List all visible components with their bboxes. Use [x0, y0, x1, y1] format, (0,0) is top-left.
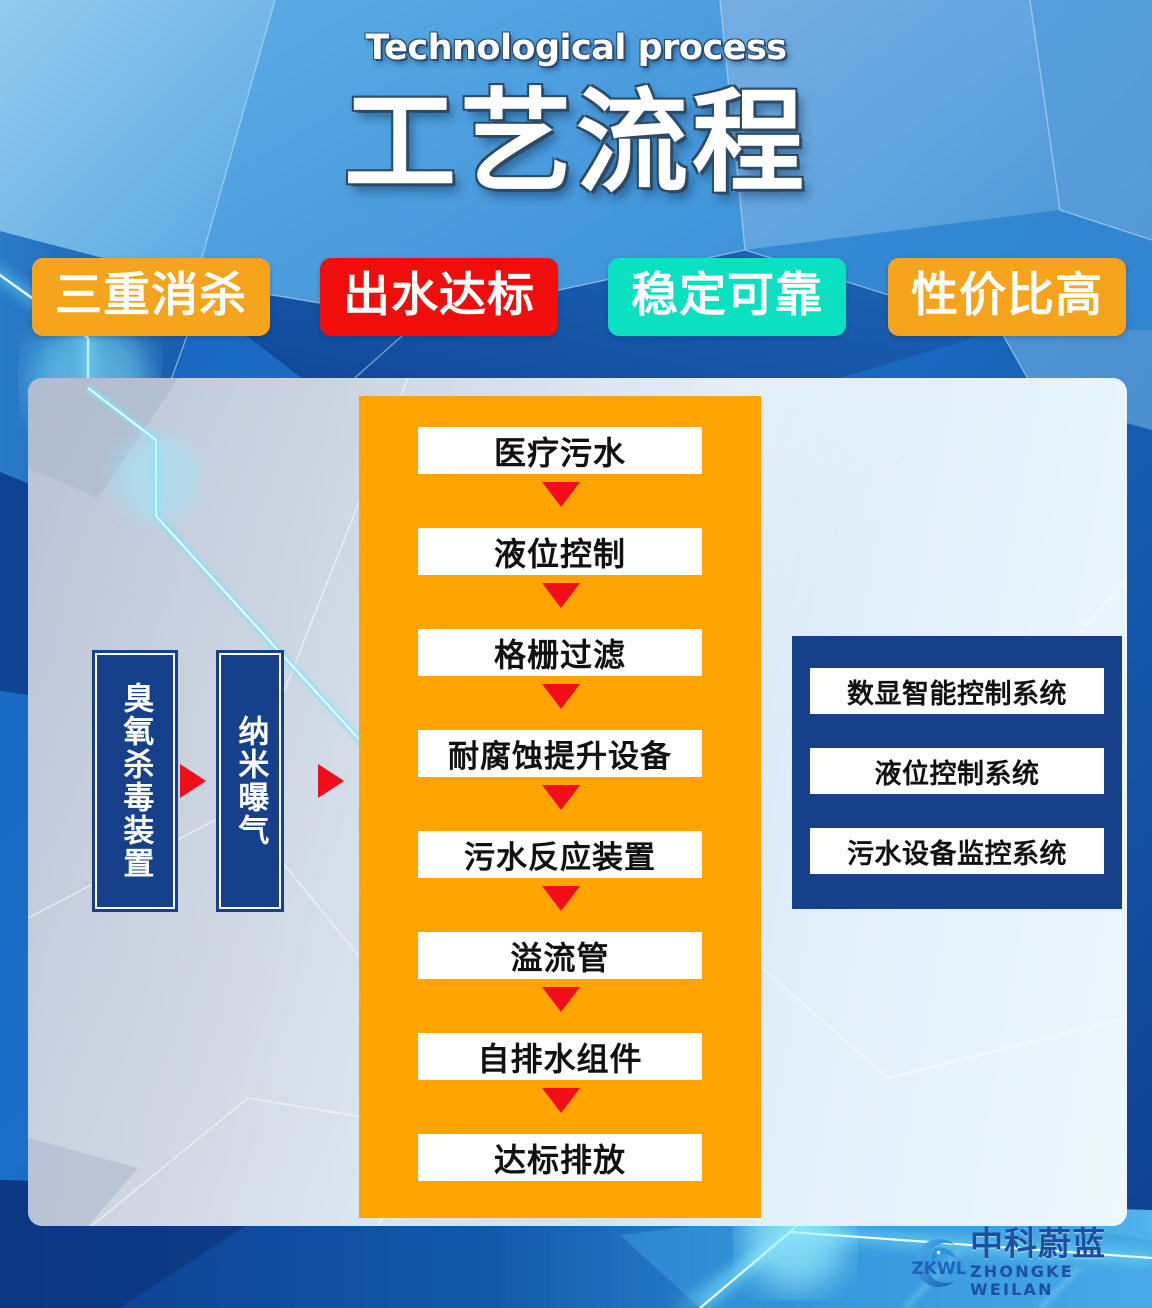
flow-step-0[interactable]: 医疗污水	[418, 427, 702, 474]
main-flow-column: 医疗污水 液位控制 格栅过滤 耐腐蚀提升设备 污水反应装置 溢流管 自排水组件 …	[359, 396, 761, 1218]
pretreatment-box-label: 臭氧杀毒装置	[119, 682, 152, 880]
pretreatment-box-nano-aeration[interactable]: 纳米曝气	[216, 650, 284, 912]
brand-logo[interactable]: ZKWL 中科蔚蓝 ZHONGKE WEILAN	[905, 1232, 1140, 1294]
pretreatment-box-label: 纳米曝气	[234, 715, 267, 847]
dolphin-circle-icon: ZKWL	[905, 1234, 967, 1292]
badge-label: 性价比高	[911, 272, 1103, 323]
flow-step-4[interactable]: 污水反应装置	[418, 831, 702, 878]
flow-step-5[interactable]: 溢流管	[418, 932, 702, 979]
badge-effluent-compliant[interactable]: 出水达标	[320, 258, 558, 336]
triangle-right-icon-0	[180, 764, 206, 798]
triangle-down-icon-0	[542, 482, 580, 507]
english-title: Technological process	[0, 28, 1152, 68]
triangle-down-icon-1	[542, 583, 580, 608]
badge-stable-reliable[interactable]: 稳定可靠	[608, 258, 846, 336]
triangle-down-icon-4	[542, 886, 580, 911]
badge-label: 三重消杀	[55, 272, 247, 323]
triangle-down-icon-5	[542, 987, 580, 1012]
badge-triple-disinfection[interactable]: 三重消杀	[32, 258, 270, 336]
triangle-down-icon-2	[542, 684, 580, 709]
company-name-cn: 中科蔚蓝	[970, 1227, 1140, 1260]
flow-step-6[interactable]: 自排水组件	[418, 1033, 702, 1080]
system-item-level-control[interactable]: 液位控制系统	[810, 748, 1104, 794]
company-name-en: ZHONGKE WEILAN	[970, 1263, 1140, 1298]
flow-step-2[interactable]: 格栅过滤	[418, 629, 702, 676]
page-title: 工艺流程	[0, 82, 1152, 205]
control-systems-panel: 数显智能控制系统 液位控制系统 污水设备监控系统	[792, 636, 1122, 909]
triangle-down-icon-3	[542, 785, 580, 810]
flow-step-3[interactable]: 耐腐蚀提升设备	[418, 730, 702, 777]
flow-step-7[interactable]: 达标排放	[418, 1134, 702, 1181]
flow-step-1[interactable]: 液位控制	[418, 528, 702, 575]
system-item-equipment-monitor[interactable]: 污水设备监控系统	[810, 828, 1104, 874]
pretreatment-box-ozone[interactable]: 臭氧杀毒装置	[92, 650, 178, 912]
badge-label: 稳定可靠	[631, 272, 823, 323]
badge-cost-effective[interactable]: 性价比高	[888, 258, 1126, 336]
svg-text:ZKWL: ZKWL	[911, 1259, 966, 1279]
badge-label: 出水达标	[343, 272, 535, 323]
feature-badge-row: 三重消杀 出水达标 稳定可靠 性价比高	[0, 258, 1152, 342]
triangle-right-icon-1	[318, 764, 344, 798]
page-header: Technological process 工艺流程	[0, 0, 1152, 250]
logo-text-block: 中科蔚蓝 ZHONGKE WEILAN	[970, 1227, 1140, 1298]
system-item-smart-control[interactable]: 数显智能控制系统	[810, 668, 1104, 714]
triangle-down-icon-6	[542, 1088, 580, 1113]
